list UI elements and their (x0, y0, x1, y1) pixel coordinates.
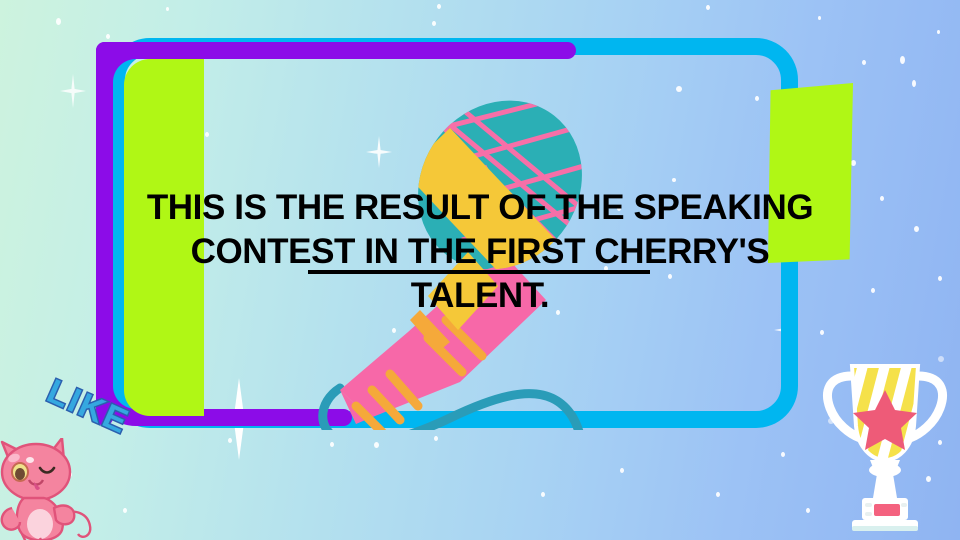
page-title: THIS IS THE RESULT OF THE SPEAKING CONTE… (0, 186, 960, 318)
trophy-icon (822, 352, 948, 534)
frame-purple-top-bar (96, 42, 576, 59)
slide-canvas: THIS IS THE RESULT OF THE SPEAKING CONTE… (0, 0, 960, 540)
headline-underline (308, 270, 650, 274)
cat-sticker-icon (0, 438, 101, 540)
